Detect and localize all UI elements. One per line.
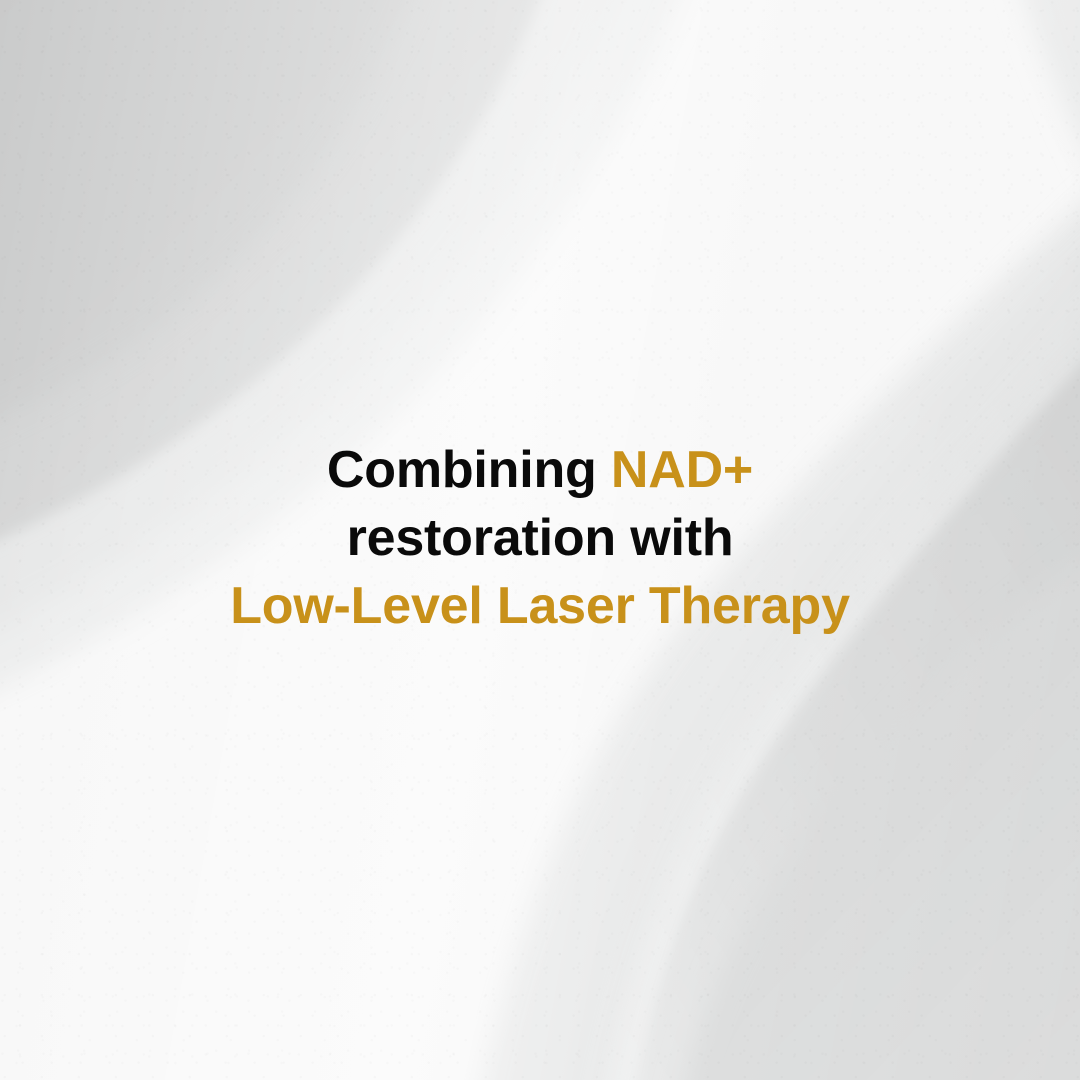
headline: Combining NAD+ restoration with Low-Leve… xyxy=(0,436,1080,640)
poster-canvas: Combining NAD+ restoration with Low-Leve… xyxy=(0,0,1080,1080)
headline-line-1-segment-gold: NAD+ xyxy=(611,441,753,499)
shape-top-left-swirl xyxy=(0,0,430,446)
headline-line-3-segment-gold: Low-Level Laser Therapy xyxy=(230,577,850,635)
headline-line-3: Low-Level Laser Therapy xyxy=(0,572,1080,640)
headline-line-2: restoration with xyxy=(0,504,1080,572)
headline-line-1-segment-ink: Combining xyxy=(327,441,611,499)
headline-line-1: Combining NAD+ xyxy=(0,436,1080,504)
shape-right-deep xyxy=(626,300,1080,1080)
shape-top-right-wedge xyxy=(1010,0,1080,250)
headline-line-2-segment-ink: restoration with xyxy=(347,509,734,567)
